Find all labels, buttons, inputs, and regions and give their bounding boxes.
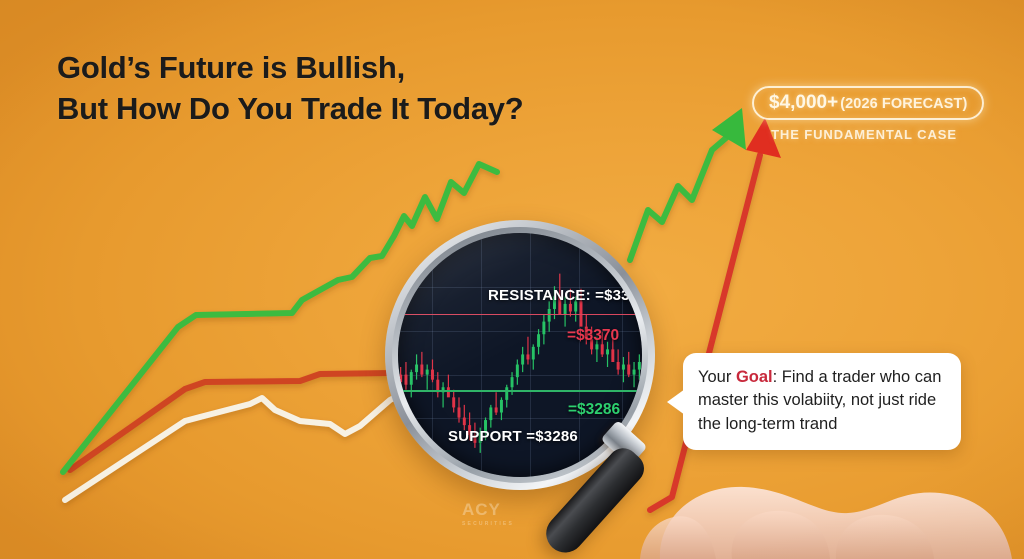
speech-bubble-text: Your Goal: Find a trader who can master …: [698, 366, 946, 436]
forecast-subtitle: THE FUNDAMENTAL CASE: [752, 127, 976, 142]
hand-holding-magnifier: [640, 455, 1024, 559]
speech-bubble-tail: [667, 389, 685, 415]
forecast-badge: $4,000+(2026 FORECAST) THE FUNDAMENTAL C…: [752, 86, 976, 142]
brand-watermark: ACY SECURITIES: [462, 500, 514, 527]
watermark-brand: ACY: [462, 500, 514, 520]
support-label: SUPPORT =$3286: [448, 428, 578, 445]
watermark-sub: SECURITIES: [462, 521, 514, 527]
bubble-prefix: Your: [698, 368, 736, 386]
headline-line-2: But How Do You Trade It Today?: [57, 88, 523, 129]
headline-line-1: Gold’s Future is Bullish,: [57, 50, 405, 85]
goal-speech-bubble: Your Goal: Find a trader who can master …: [683, 353, 961, 450]
support-level-line: [398, 390, 642, 392]
support-price-tag: =$3286: [568, 401, 620, 419]
page-title: Gold’s Future is Bullish, But How Do You…: [57, 47, 523, 129]
resistance-level-line: [398, 314, 642, 316]
promo-graphic: Gold’s Future is Bullish, But How Do You…: [0, 0, 1024, 559]
bubble-emphasis: Goal: [736, 368, 773, 386]
forecast-pill: $4,000+(2026 FORECAST): [752, 86, 984, 120]
forecast-note: (2026 FORECAST): [840, 96, 967, 112]
forecast-amount: $4,000+: [769, 92, 838, 113]
resistance-label: RESISTANCE: =$3370: [488, 287, 642, 304]
resistance-price-tag: =$3370: [567, 327, 619, 345]
